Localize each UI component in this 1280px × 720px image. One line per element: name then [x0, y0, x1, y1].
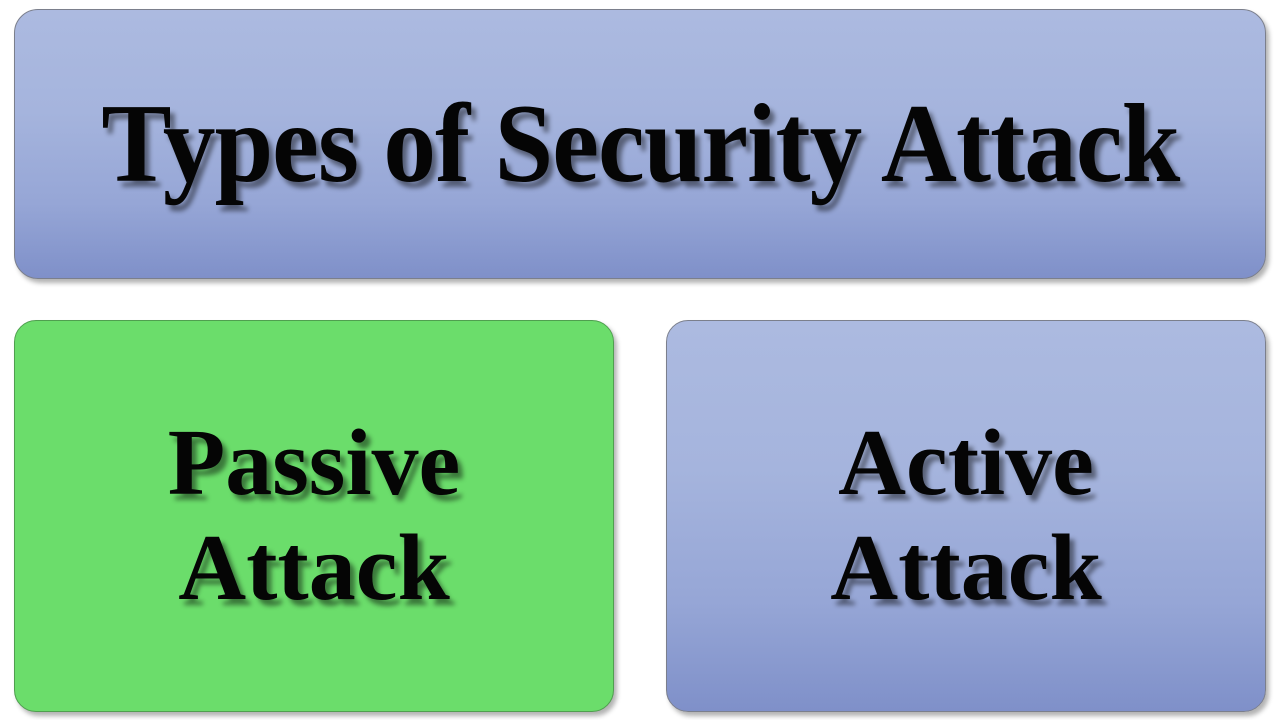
- title-text-block: Types of Security Attack: [63, 91, 1216, 197]
- slide-canvas: Types of Security Attack Passive Attack …: [0, 0, 1280, 720]
- title-line-1: Types of Security: [101, 82, 861, 206]
- active-attack-line-1: Active: [830, 411, 1102, 516]
- active-attack-line-2: Attack: [830, 516, 1102, 621]
- passive-attack-line-2: Attack: [168, 516, 460, 621]
- title-line-2: Attack: [881, 82, 1179, 206]
- passive-attack-card[interactable]: Passive Attack: [14, 320, 614, 712]
- active-attack-card[interactable]: Active Attack: [666, 320, 1266, 712]
- passive-attack-text-block: Passive Attack: [148, 411, 480, 622]
- title-card: Types of Security Attack: [14, 9, 1266, 279]
- active-attack-text-block: Active Attack: [810, 411, 1122, 622]
- passive-attack-line-1: Passive: [168, 411, 460, 516]
